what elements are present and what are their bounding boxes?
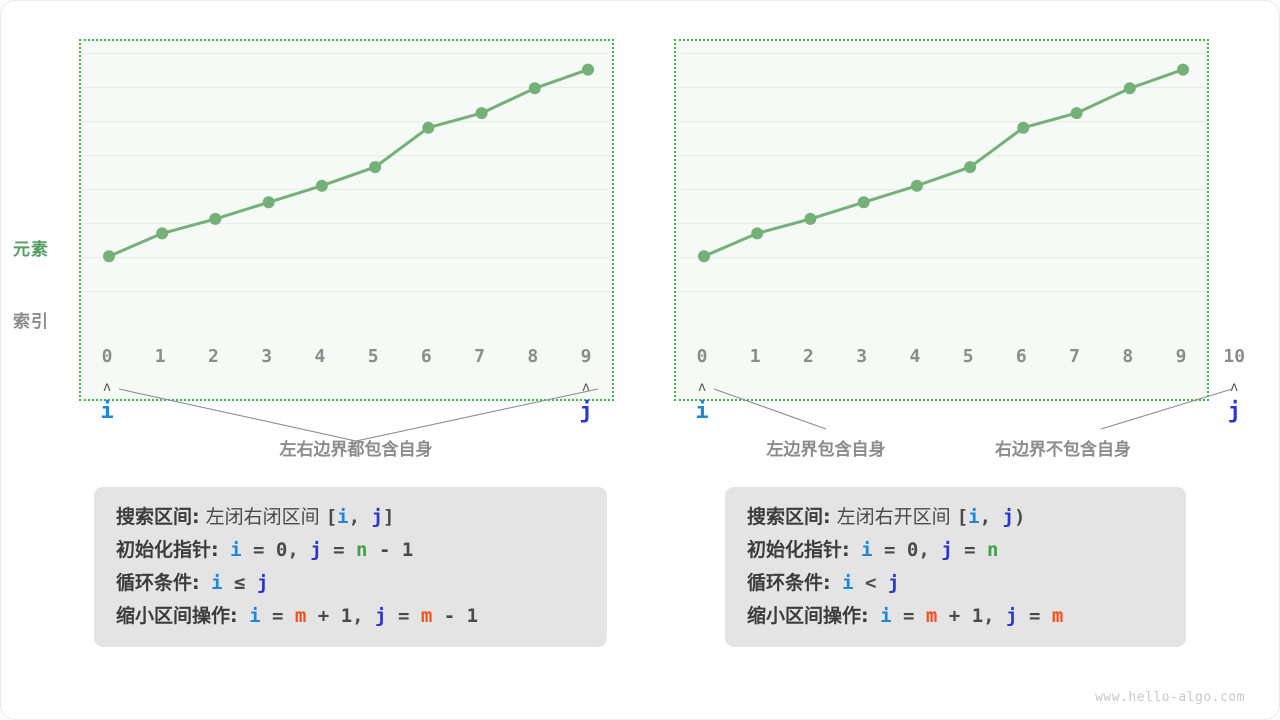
index-tick-9: 9 xyxy=(1176,346,1187,367)
info-box-closed-interval: 搜索区间: 左闭右闭区间 [i, j] 初始化指针: i = 0, j = n … xyxy=(94,487,607,647)
var-i: i xyxy=(861,539,872,561)
pointer-row-right: ij xyxy=(674,401,1209,431)
index-tick-5: 5 xyxy=(963,346,974,367)
var-j: j xyxy=(1006,605,1017,627)
operator-equals: = xyxy=(333,539,344,561)
var-i: i xyxy=(211,572,222,594)
caret-row-left: ʌʌ xyxy=(79,380,614,396)
bracket-close: ) xyxy=(1014,506,1025,528)
var-n: n xyxy=(987,539,998,561)
var-j: j xyxy=(941,539,952,561)
index-tick-6: 6 xyxy=(1016,346,1027,367)
info-row-search-range: 搜索区间: 左闭右闭区间 [i, j] xyxy=(116,501,587,534)
label-loop-condition: 循环条件: xyxy=(116,572,200,594)
bracket-open: [ xyxy=(957,506,968,528)
index-tick-0: 0 xyxy=(697,346,708,367)
caret-row-right: ʌʌ xyxy=(674,380,1209,396)
pointer-label-i: i xyxy=(695,401,708,423)
value-one: 1 xyxy=(341,605,352,627)
var-j: j xyxy=(1003,506,1014,528)
caret-icon-j: ʌ xyxy=(1230,380,1238,395)
value-one: 1 xyxy=(467,605,478,627)
data-point-marker xyxy=(858,196,870,208)
series-polyline xyxy=(704,70,1183,257)
data-point-marker xyxy=(964,161,976,173)
pointer-row-left: ij xyxy=(79,401,614,431)
var-j: j xyxy=(257,572,268,594)
index-tick-9: 9 xyxy=(581,346,592,367)
comma: , xyxy=(918,539,929,561)
data-point-marker xyxy=(1017,122,1029,134)
gridline xyxy=(81,291,612,292)
comma: , xyxy=(980,506,991,528)
var-m: m xyxy=(421,605,432,627)
data-point-marker xyxy=(369,161,381,173)
index-tick-0: 0 xyxy=(102,346,113,367)
info-row-shrink-op: 缩小区间操作: i = m + 1, j = m - 1 xyxy=(116,600,587,633)
info-row-init-pointers: 初始化指针: i = 0, j = n xyxy=(747,534,1166,567)
data-point-marker xyxy=(156,227,168,239)
data-point-marker xyxy=(476,107,488,119)
index-tick-1: 1 xyxy=(155,346,166,367)
axis-label-elements: 元素 xyxy=(13,235,49,260)
data-point-marker xyxy=(316,180,328,192)
info-row-init-pointers: 初始化指针: i = 0, j = n - 1 xyxy=(116,534,587,567)
index-tick-5: 5 xyxy=(368,346,379,367)
operator-equals: = xyxy=(398,605,409,627)
value-one: 1 xyxy=(402,539,413,561)
bracket-close: ] xyxy=(383,506,394,528)
label-search-range: 搜索区间: xyxy=(116,506,200,528)
index-tick-2: 2 xyxy=(803,346,814,367)
value-one: 1 xyxy=(972,605,983,627)
data-point-marker xyxy=(804,213,816,225)
data-point-marker xyxy=(1071,107,1083,119)
pointer-label-i: i xyxy=(100,401,113,423)
operator-compare: < xyxy=(865,572,876,594)
index-tick-3: 3 xyxy=(261,346,272,367)
var-m: m xyxy=(295,605,306,627)
index-tick-2: 2 xyxy=(208,346,219,367)
var-i: i xyxy=(842,572,853,594)
operator-equals: = xyxy=(272,605,283,627)
index-tick-6: 6 xyxy=(421,346,432,367)
index-tick-1: 1 xyxy=(750,346,761,367)
info-box-half-open-interval: 搜索区间: 左闭右开区间 [i, j) 初始化指针: i = 0, j = n … xyxy=(725,487,1186,647)
index-tick-row-right: 012345678910 xyxy=(674,346,1209,370)
var-i: i xyxy=(337,506,348,528)
label-shrink-op: 缩小区间操作: xyxy=(747,605,869,627)
var-m: m xyxy=(1052,605,1063,627)
info-row-search-range: 搜索区间: 左闭右开区间 [i, j) xyxy=(747,501,1166,534)
caption-right-panel-left: 左边界包含自身 xyxy=(767,435,886,460)
series-line-right xyxy=(676,41,1211,291)
operator-compare: ≤ xyxy=(234,572,245,594)
index-tick-10: 10 xyxy=(1223,346,1245,367)
operator-minus: - xyxy=(444,605,455,627)
var-j: j xyxy=(888,572,899,594)
var-m: m xyxy=(926,605,937,627)
caret-icon-i: ʌ xyxy=(698,380,706,395)
index-tick-4: 4 xyxy=(314,346,325,367)
axis-label-indices: 索引 xyxy=(13,307,49,332)
data-point-marker xyxy=(1177,64,1189,76)
data-point-marker xyxy=(698,250,710,262)
label-init-pointers: 初始化指针: xyxy=(116,539,219,561)
caption-right-panel-right: 右边界不包含自身 xyxy=(995,435,1131,460)
text-interval-type: 左闭右开区间 xyxy=(837,506,951,528)
data-point-marker xyxy=(529,82,541,94)
label-loop-condition: 循环条件: xyxy=(747,572,831,594)
value-zero: 0 xyxy=(907,539,918,561)
index-tick-3: 3 xyxy=(856,346,867,367)
var-n: n xyxy=(356,539,367,561)
operator-equals: = xyxy=(903,605,914,627)
var-i: i xyxy=(249,605,260,627)
data-point-marker xyxy=(209,213,221,225)
caret-icon-j: ʌ xyxy=(582,380,590,395)
operator-minus: - xyxy=(379,539,390,561)
data-point-marker xyxy=(582,64,594,76)
comma: , xyxy=(352,605,363,627)
pointer-label-j: j xyxy=(1228,401,1241,423)
operator-equals: = xyxy=(964,539,975,561)
operator-equals: = xyxy=(884,539,895,561)
label-shrink-op: 缩小区间操作: xyxy=(116,605,238,627)
var-j: j xyxy=(375,605,386,627)
index-tick-4: 4 xyxy=(909,346,920,367)
var-j: j xyxy=(372,506,383,528)
data-point-marker xyxy=(263,196,275,208)
operator-plus: + xyxy=(318,605,329,627)
data-point-marker xyxy=(1124,82,1136,94)
diagram-canvas: 0123456789 ʌʌ ij 012345678910 ʌʌ ij 元素 索… xyxy=(0,0,1280,720)
bracket-open: [ xyxy=(326,506,337,528)
label-search-range: 搜索区间: xyxy=(747,506,831,528)
index-tick-7: 7 xyxy=(1069,346,1080,367)
var-i: i xyxy=(230,539,241,561)
var-i: i xyxy=(968,506,979,528)
operator-plus: + xyxy=(949,605,960,627)
text-interval-type: 左闭右闭区间 xyxy=(206,506,320,528)
data-point-marker xyxy=(103,250,115,262)
caption-left-panel: 左右边界都包含自身 xyxy=(280,435,433,460)
data-point-marker xyxy=(751,227,763,239)
comma: , xyxy=(983,605,994,627)
info-row-shrink-op: 缩小区间操作: i = m + 1, j = m xyxy=(747,600,1166,633)
operator-equals: = xyxy=(1029,605,1040,627)
info-row-loop-condition: 循环条件: i < j xyxy=(747,567,1166,600)
data-point-marker xyxy=(422,122,434,134)
pointer-label-j: j xyxy=(579,401,592,423)
index-tick-8: 8 xyxy=(527,346,538,367)
comma: , xyxy=(349,506,360,528)
var-i: i xyxy=(880,605,891,627)
value-zero: 0 xyxy=(276,539,287,561)
caret-icon-i: ʌ xyxy=(103,380,111,395)
index-tick-row-left: 0123456789 xyxy=(79,346,614,370)
var-j: j xyxy=(310,539,321,561)
watermark: www.hello-algo.com xyxy=(1095,690,1245,705)
label-init-pointers: 初始化指针: xyxy=(747,539,850,561)
series-polyline xyxy=(109,70,588,257)
operator-equals: = xyxy=(253,539,264,561)
series-line-left xyxy=(81,41,616,291)
gridline xyxy=(676,291,1207,292)
info-row-loop-condition: 循环条件: i ≤ j xyxy=(116,567,587,600)
data-point-marker xyxy=(911,180,923,192)
comma: , xyxy=(287,539,298,561)
index-tick-8: 8 xyxy=(1122,346,1133,367)
index-tick-7: 7 xyxy=(474,346,485,367)
